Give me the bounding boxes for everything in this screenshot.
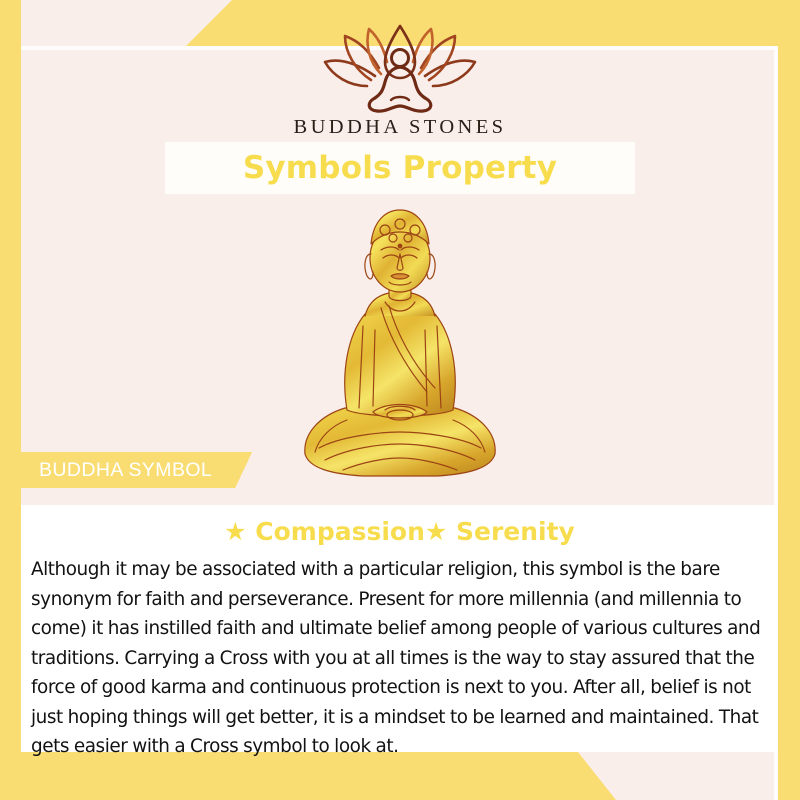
- lotus-meditation-figure-icon: [305, 18, 495, 114]
- hero-image-container: [0, 196, 800, 496]
- content-paragraph: Although it may be associated with a par…: [31, 555, 770, 762]
- content-subtitle: ★ Compassion★ Serenity: [21, 517, 778, 546]
- content-card: ★ Compassion★ Serenity Although it may b…: [21, 505, 778, 752]
- page-title: Symbols Property: [243, 150, 557, 186]
- section-label-buddha-symbol: BUDDHA SYMBOL: [21, 452, 252, 488]
- brand-header: BUDDHA STONES: [0, 18, 800, 139]
- title-banner: Symbols Property: [165, 142, 635, 194]
- brand-name: BUDDHA STONES: [0, 116, 800, 139]
- page-root: BUDDHA STONES Symbols Property: [0, 0, 800, 800]
- seated-golden-buddha-statue-icon: [285, 196, 515, 491]
- section-label-text: BUDDHA SYMBOL: [39, 459, 212, 482]
